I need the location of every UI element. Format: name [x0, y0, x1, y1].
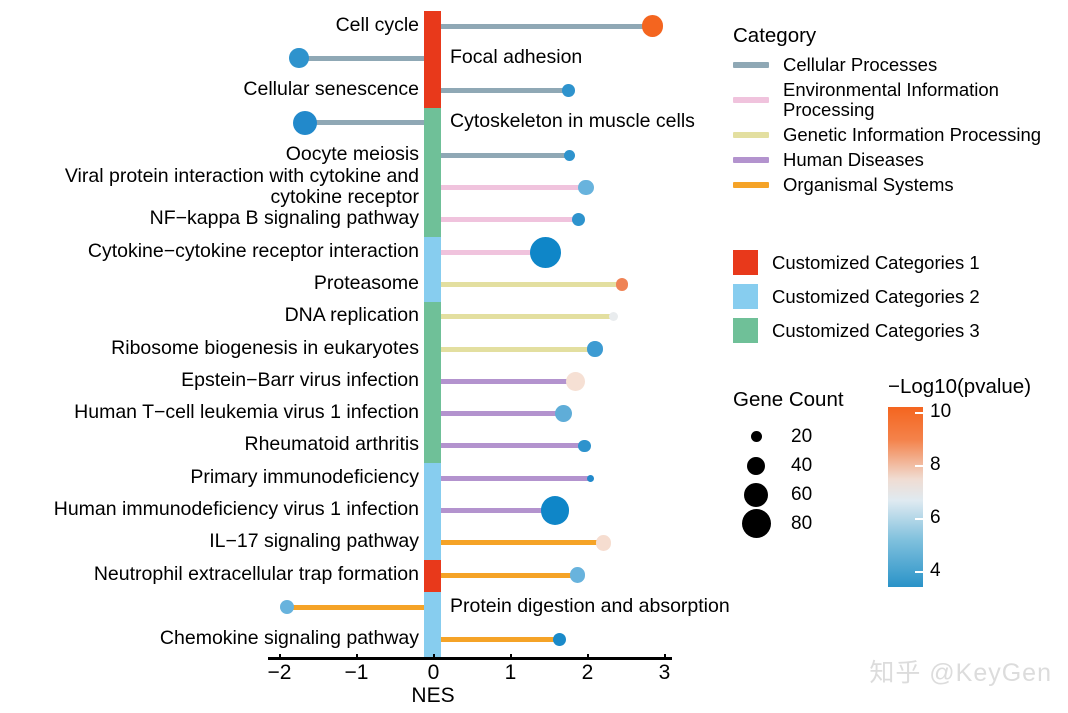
lollipop-stem — [441, 637, 560, 642]
legend-customized-label: Customized Categories 2 — [772, 287, 980, 307]
pathway-label: IL−17 signaling pathway — [209, 531, 419, 552]
legend-size-dot — [747, 457, 765, 475]
lollipop-dot[interactable] — [289, 48, 309, 68]
pathway-label: Epstein−Barr virus infection — [181, 370, 419, 391]
customized-category-band — [424, 302, 441, 335]
lollipop-dot[interactable] — [578, 180, 594, 196]
colorbar-tick-mark — [915, 412, 923, 414]
colorbar-tick-label: 4 — [930, 560, 941, 582]
pathway-label: Human T−cell leukemia virus 1 infection — [74, 402, 419, 423]
legend-size-label: 20 — [791, 426, 812, 448]
colorbar-tick-mark — [915, 518, 923, 520]
legend-color-key — [733, 97, 769, 103]
customized-category-band — [424, 592, 441, 625]
colorbar-tick-label: 6 — [930, 507, 941, 529]
x-tick-label: 1 — [505, 661, 517, 685]
customized-category-band — [424, 625, 441, 658]
pathway-label: NF−kappa B signaling pathway — [150, 208, 419, 229]
pathway-label: Proteasome — [314, 273, 419, 294]
x-tick-label: −2 — [268, 661, 292, 685]
lollipop-dot[interactable] — [564, 150, 575, 161]
pathway-label: Neutrophil extracellular trap formation — [94, 564, 419, 585]
legend-customized-label: Customized Categories 3 — [772, 321, 980, 341]
legend-customized-label: Customized Categories 1 — [772, 253, 980, 273]
lollipop-stem — [299, 56, 424, 61]
lollipop-stem — [287, 605, 424, 610]
pathway-label: Human immunodeficiency virus 1 infection — [54, 499, 419, 520]
x-tick-mark — [356, 654, 358, 660]
legend-gene-count-items: 20406080 — [733, 422, 844, 538]
lollipop-dot[interactable] — [570, 567, 586, 583]
legend-size-label: 60 — [791, 484, 812, 506]
legend-pvalue-title: −Log10(pvalue) — [888, 375, 1031, 399]
customized-category-band — [424, 237, 441, 270]
pathway-label: Viral protein interaction with cytokine … — [65, 166, 419, 208]
legend-category-items: Cellular ProcessesEnvironmental Informat… — [733, 55, 1041, 195]
lollipop-dot[interactable] — [587, 475, 594, 482]
legend-color-swatch — [733, 250, 758, 275]
legend-category-title: Category — [733, 24, 1041, 48]
customized-category-band — [424, 11, 441, 44]
pvalue-colorbar — [888, 407, 923, 587]
customized-category-band — [424, 496, 441, 529]
x-tick-mark — [510, 654, 512, 660]
customized-category-band — [424, 366, 441, 399]
chart-root: −2−10123 NES Category Cellular Processes… — [0, 0, 1068, 713]
lollipop-stem — [441, 476, 591, 481]
legend-color-key — [733, 182, 769, 188]
legend-size-dot-holder — [733, 483, 779, 507]
legend-category-label: Genetic Information Processing — [783, 125, 1041, 145]
lollipop-dot[interactable] — [530, 237, 561, 268]
lollipop-dot[interactable] — [562, 84, 575, 97]
x-axis-line — [268, 657, 672, 660]
lollipop-dot[interactable] — [596, 535, 612, 551]
lollipop-dot[interactable] — [555, 405, 572, 422]
lollipop-dot[interactable] — [609, 312, 619, 322]
lollipop-stem — [441, 282, 622, 287]
colorbar-tick-mark — [915, 465, 923, 467]
customized-category-band — [424, 108, 441, 141]
legend-size-label: 80 — [791, 513, 812, 535]
legend-size-dot-holder — [733, 457, 779, 475]
legend-category-item[interactable]: Organismal Systems — [733, 175, 1041, 195]
legend-color-key — [733, 62, 769, 68]
x-tick-mark — [279, 654, 281, 660]
lollipop-stem — [441, 217, 578, 222]
lollipop-stem — [441, 24, 652, 29]
legend-category-label: Organismal Systems — [783, 175, 954, 195]
lollipop-dot[interactable] — [587, 341, 603, 357]
lollipop-stem — [441, 411, 564, 416]
pathway-label: Cytokine−cytokine receptor interaction — [88, 241, 419, 262]
customized-category-band — [424, 140, 441, 173]
pathway-label: Focal adhesion — [450, 47, 582, 68]
lollipop-dot[interactable] — [293, 111, 318, 136]
lollipop-stem — [305, 120, 424, 125]
legend-customized-item[interactable]: Customized Categories 2 — [733, 284, 980, 309]
pathway-label: DNA replication — [285, 305, 419, 326]
legend-customized-categories: Customized Categories 1Customized Catego… — [733, 250, 980, 352]
customized-category-band — [424, 431, 441, 464]
legend-size-label: 40 — [791, 455, 812, 477]
lollipop-dot[interactable] — [578, 440, 591, 453]
x-tick-label: 2 — [582, 661, 594, 685]
lollipop-dot[interactable] — [541, 496, 569, 524]
legend-category: Category Cellular ProcessesEnvironmental… — [733, 24, 1041, 200]
legend-size-dot — [742, 509, 771, 538]
legend-size-item[interactable]: 80 — [733, 509, 844, 538]
legend-size-dot-holder — [733, 431, 779, 442]
legend-pvalue: −Log10(pvalue) 10864 — [888, 375, 1031, 407]
lollipop-dot[interactable] — [553, 633, 566, 646]
watermark: 知乎 @KeyGen — [869, 653, 1052, 689]
pathway-label: Cellular senescence — [243, 79, 419, 100]
lollipop-stem — [441, 508, 555, 513]
legend-size-dot — [751, 431, 762, 442]
pathway-label: Protein digestion and absorption — [450, 596, 730, 617]
x-tick-mark — [433, 654, 435, 660]
pathway-label: Ribosome biogenesis in eukaryotes — [111, 338, 419, 359]
lollipop-stem — [441, 443, 584, 448]
lollipop-dot[interactable] — [616, 278, 629, 291]
customized-category-band — [424, 76, 441, 109]
customized-category-band — [424, 334, 441, 367]
x-tick-mark — [664, 654, 666, 660]
lollipop-dot[interactable] — [566, 372, 585, 391]
x-tick-label: 0 — [428, 661, 440, 685]
customized-category-band — [424, 205, 441, 238]
x-axis-title: NES — [411, 684, 454, 708]
lollipop-stem — [441, 153, 570, 158]
legend-category-label: Human Diseases — [783, 150, 924, 170]
lollipop-stem — [441, 379, 575, 384]
pathway-label: Primary immunodeficiency — [190, 467, 419, 488]
customized-category-band — [424, 560, 441, 593]
legend-customized-items: Customized Categories 1Customized Catego… — [733, 250, 980, 343]
lollipop-stem — [441, 88, 568, 93]
lollipop-stem — [441, 573, 577, 578]
customized-category-band — [424, 43, 441, 76]
lollipop-dot[interactable] — [642, 15, 663, 36]
lollipop-stem — [441, 314, 614, 319]
legend-category-label: Environmental InformationProcessing — [783, 80, 999, 120]
legend-size-dot-holder — [733, 509, 779, 538]
legend-size-item[interactable]: 20 — [733, 422, 844, 451]
pathway-label: Cell cycle — [336, 15, 419, 36]
lollipop-stem — [441, 540, 604, 545]
legend-category-item[interactable]: Human Diseases — [733, 150, 1041, 170]
customized-category-band — [424, 173, 441, 206]
legend-customized-item[interactable]: Customized Categories 3 — [733, 318, 980, 343]
colorbar-tick-label: 8 — [930, 454, 941, 476]
legend-color-key — [733, 157, 769, 163]
customized-category-band — [424, 399, 441, 432]
lollipop-stem — [441, 347, 595, 352]
legend-category-item[interactable]: Cellular Processes — [733, 55, 1041, 75]
lollipop-dot[interactable] — [280, 600, 294, 614]
x-tick-mark — [587, 654, 589, 660]
pathway-label: Cytoskeleton in muscle cells — [450, 111, 695, 132]
pathway-label: Oocyte meiosis — [286, 144, 419, 165]
legend-color-key — [733, 132, 769, 138]
x-tick-label: −1 — [345, 661, 369, 685]
pathway-label: Chemokine signaling pathway — [160, 628, 419, 649]
legend-color-swatch — [733, 284, 758, 309]
colorbar-tick-label: 10 — [930, 401, 951, 423]
legend-gene-count: Gene Count 20406080 — [733, 388, 844, 538]
legend-category-item[interactable]: Environmental InformationProcessing — [733, 80, 1041, 120]
legend-color-swatch — [733, 318, 758, 343]
legend-gene-count-title: Gene Count — [733, 388, 844, 412]
colorbar-tick-mark — [915, 571, 923, 573]
legend-size-item[interactable]: 40 — [733, 451, 844, 480]
x-tick-label: 3 — [659, 661, 671, 685]
legend-size-item[interactable]: 60 — [733, 480, 844, 509]
lollipop-dot[interactable] — [572, 213, 585, 226]
customized-category-band — [424, 528, 441, 561]
customized-category-band — [424, 463, 441, 496]
lollipop-stem — [441, 185, 586, 190]
legend-size-dot — [744, 483, 768, 507]
legend-customized-item[interactable]: Customized Categories 1 — [733, 250, 980, 275]
legend-category-item[interactable]: Genetic Information Processing — [733, 125, 1041, 145]
pathway-label: Rheumatoid arthritis — [245, 434, 420, 455]
legend-category-label: Cellular Processes — [783, 55, 937, 75]
customized-category-band — [424, 269, 441, 302]
